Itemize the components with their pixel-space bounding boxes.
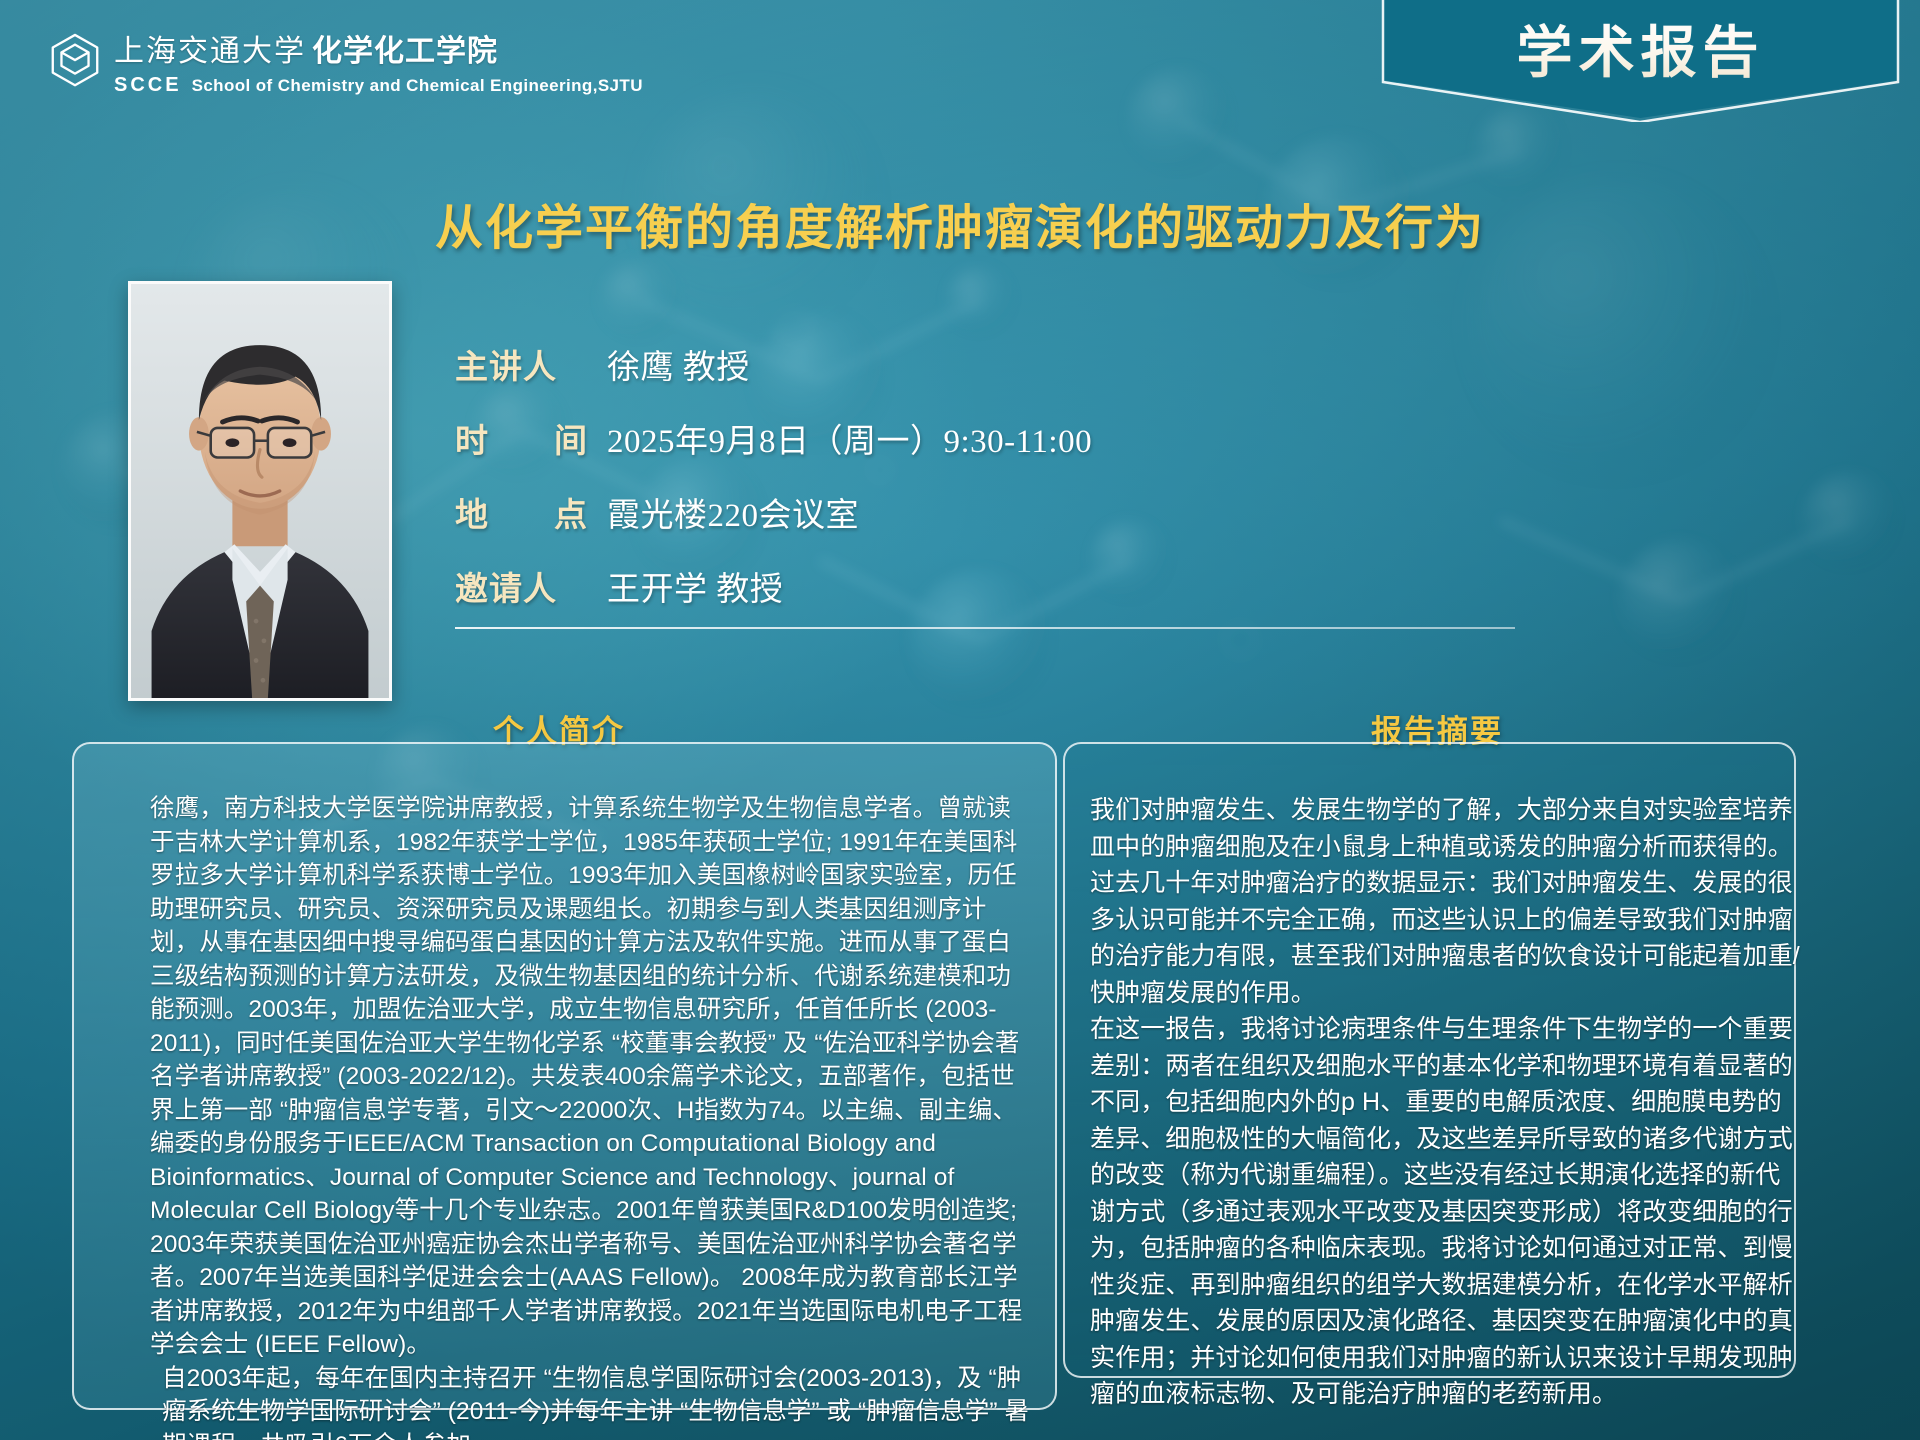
bio-paragraph-2: 自2003年起，每年在国内主持召开 “生物信息学国际研讨会(2003-2013)… [150, 1362, 1030, 1440]
badge-label: 学术报告 [1383, 0, 1898, 118]
abstract-paragraph-2: 在这一报告，我将讨论病理条件与生理条件下生物学的一个重要差别：两者在组织及细胞水… [1090, 1011, 1800, 1413]
info-divider [455, 627, 1515, 629]
info-label-speaker: 主讲人 [455, 340, 607, 388]
academic-report-badge: 学术报告 [1383, 0, 1898, 118]
logo-abbreviation: SCCE [114, 74, 182, 97]
info-value-location: 霞光楼220会议室 [607, 488, 859, 536]
info-row-time: 时间 2025年9月8日（周一）9:30-11:00 [455, 414, 1525, 462]
page-title: 从化学平衡的角度解析肿瘤演化的驱动力及行为 [0, 188, 1920, 258]
speaker-portrait [128, 281, 392, 701]
scce-logo: 上海交通大学 化学化工学院 SCCE School of Chemistry a… [46, 26, 643, 97]
logo-school-name: 化学化工学院 [312, 26, 498, 70]
info-value-time: 2025年9月8日（周一）9:30-11:00 [607, 414, 1092, 462]
info-value-speaker: 徐鹰 教授 [607, 340, 750, 388]
info-label-time: 时间 [455, 414, 607, 462]
abstract-paragraph-1: 我们对肿瘤发生、发展生物学的了解，大部分来自对实验室培养皿中的肿瘤细胞及在小鼠身… [1090, 792, 1800, 1011]
logo-english-name: School of Chemistry and Chemical Enginee… [192, 76, 643, 96]
info-value-host: 王开学 教授 [607, 562, 783, 610]
bio-text: 徐鹰，南方科技大学医学院讲席教授，计算系统生物学及生物信息学者。曾就读于吉林大学… [150, 792, 1030, 1440]
info-row-host: 邀请人 王开学 教授 [455, 562, 1525, 610]
abstract-text: 我们对肿瘤发生、发展生物学的了解，大部分来自对实验室培养皿中的肿瘤细胞及在小鼠身… [1090, 792, 1800, 1413]
scce-hexagon-logo-icon [46, 31, 104, 93]
event-info-list: 主讲人 徐鹰 教授 时间 2025年9月8日（周一）9:30-11:00 地点 … [455, 340, 1525, 636]
logo-university-name: 上海交通大学 [114, 26, 306, 70]
avatar [131, 284, 389, 698]
info-label-host: 邀请人 [455, 562, 607, 610]
bio-paragraph-1: 徐鹰，南方科技大学医学院讲席教授，计算系统生物学及生物信息学者。曾就读于吉林大学… [150, 792, 1030, 1362]
info-label-location: 地点 [455, 488, 607, 536]
info-row-speaker: 主讲人 徐鹰 教授 [455, 340, 1525, 388]
info-row-location: 地点 霞光楼220会议室 [455, 488, 1525, 536]
